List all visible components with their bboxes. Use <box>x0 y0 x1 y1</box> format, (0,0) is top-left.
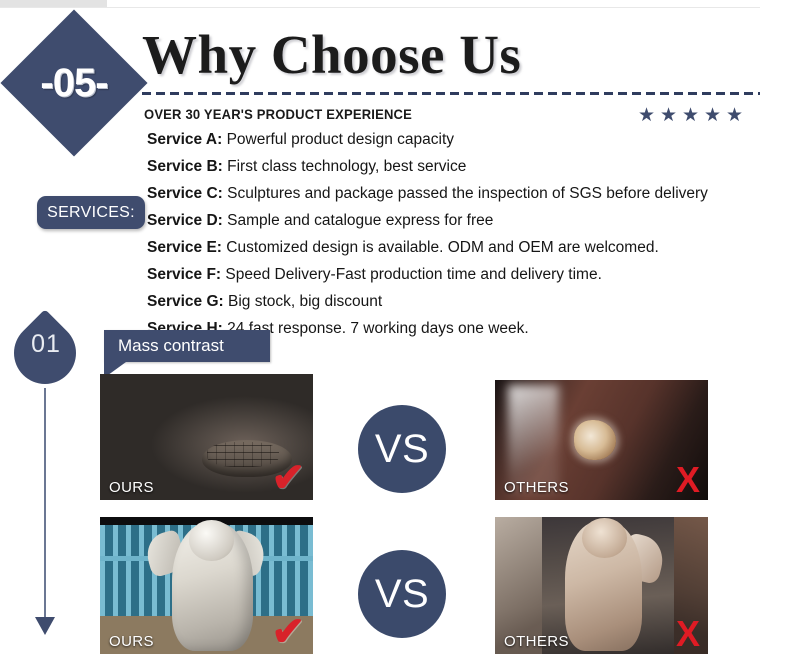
photo-caption: OTHERS <box>504 633 569 650</box>
service-text: Big stock, big discount <box>228 293 382 310</box>
cross-mark-icon: X <box>676 616 700 652</box>
compare-photo-ours-2: OURS ✔ <box>100 517 313 654</box>
service-label: Service C: <box>147 185 223 202</box>
star-icon: ★ <box>682 107 700 125</box>
service-label: Service A: <box>147 131 222 148</box>
marker-stem <box>44 388 46 620</box>
star-icon: ★ <box>726 107 744 125</box>
service-text: Speed Delivery-Fast production time and … <box>225 266 601 283</box>
service-text: 24 fast response. 7 working days one wee… <box>227 320 529 337</box>
compare-photo-others-1: OTHERS X <box>495 380 708 500</box>
compare-photo-ours-1: OURS ✔ <box>100 374 313 500</box>
poster-page: -05- Why Choose Us OVER 30 YEAR'S PRODUC… <box>0 0 800 667</box>
rating-stars: ★ ★ ★ ★ ★ <box>638 107 744 125</box>
service-text: Customized design is available. ODM and … <box>226 239 658 256</box>
section-marker: 01 <box>8 314 84 659</box>
photo-caption: OURS <box>109 633 154 650</box>
star-icon: ★ <box>704 107 722 125</box>
marker-foot-icon <box>35 617 55 635</box>
photo-caption: OTHERS <box>504 479 569 496</box>
service-text: First class technology, best service <box>227 158 466 175</box>
top-chrome-strip <box>0 0 800 10</box>
list-item: Service B: First class technology, best … <box>147 153 767 180</box>
list-item: Service C: Sculptures and package passed… <box>147 180 767 207</box>
check-mark-icon: ✔ <box>271 458 305 498</box>
chrome-divider-line <box>0 7 760 8</box>
cross-mark-icon: X <box>676 462 700 498</box>
photo-caption: OURS <box>109 479 154 496</box>
service-label: Service E: <box>147 239 222 256</box>
header-section: -05- Why Choose Us OVER 30 YEAR'S PRODUC… <box>0 14 800 129</box>
list-item: Service D: Sample and catalogue express … <box>147 207 767 234</box>
page-subtitle: OVER 30 YEAR'S PRODUCT EXPERIENCE <box>144 106 412 122</box>
star-icon: ★ <box>660 107 678 125</box>
compare-photo-others-2: OTHERS X <box>495 517 708 654</box>
service-text: Powerful product design capacity <box>227 131 454 148</box>
mass-contrast-banner: Mass contrast <box>104 330 270 362</box>
list-item: Service G: Big stock, big discount <box>147 288 767 315</box>
list-item: Service F: Speed Delivery-Fast productio… <box>147 261 767 288</box>
service-label: Service F: <box>147 266 221 283</box>
title-dashed-divider <box>142 92 760 95</box>
service-label: Service D: <box>147 212 223 229</box>
service-text: Sample and catalogue express for free <box>227 212 493 229</box>
services-list: Service A: Powerful product design capac… <box>147 126 767 342</box>
vs-badge-2: VS <box>358 550 446 638</box>
services-badge: SERVICES: <box>37 196 145 229</box>
chrome-bar-fill <box>0 0 107 7</box>
page-title: Why Choose Us <box>142 26 521 84</box>
angel-head <box>189 520 234 561</box>
section-number-label: -05- <box>22 31 126 135</box>
vs-badge-1: VS <box>358 405 446 493</box>
list-item: Service E: Customized design is availabl… <box>147 234 767 261</box>
service-label: Service B: <box>147 158 223 175</box>
star-icon: ★ <box>638 107 656 125</box>
list-item: Service A: Powerful product design capac… <box>147 126 767 153</box>
service-text: Sculptures and package passed the inspec… <box>227 185 708 202</box>
cherub-head <box>582 518 627 558</box>
check-mark-icon: ✔ <box>271 612 305 652</box>
service-label: Service G: <box>147 293 224 310</box>
section-marker-label: 01 <box>8 330 84 359</box>
